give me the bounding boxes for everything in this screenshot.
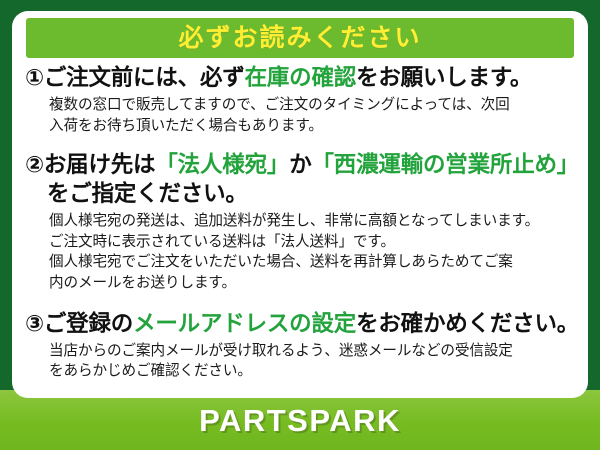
header-banner: 必ずお読みください xyxy=(26,18,574,58)
notice-body-line: をあらかじめご確認ください。 xyxy=(49,361,578,382)
notice-item-heading-line2: をご指定ください。 xyxy=(25,180,578,209)
notice-item-heading: ①ご注文前には、必ず在庫の確認をお願いします。 xyxy=(25,64,578,93)
notice-item-body: 当店からのご案内メールが受け取れるよう、迷惑メールなどの受信設定をあらかじめご確… xyxy=(25,341,578,382)
notice-highlight-text: 「西濃運輸の営業所止め」 xyxy=(312,152,580,177)
notice-item-heading: ③ご登録のメールアドレスの設定をお確かめください。 xyxy=(25,310,578,339)
notice-heading-text: か xyxy=(289,152,311,177)
notice-item: ①ご注文前には、必ず在庫の確認をお願いします。複数の窓口で販売してますので、ご注… xyxy=(12,64,588,136)
notice-item-marker: ③ xyxy=(25,311,44,336)
notice-heading-text: お届け先は xyxy=(44,152,156,177)
notice-item: ③ご登録のメールアドレスの設定をお確かめください。当店からのご案内メールが受け取… xyxy=(12,310,588,382)
notice-body-line: 個人様宅宛の発送は、追加送料が発生し、非常に高額となってしまいます。 xyxy=(49,211,578,232)
notice-item-marker: ① xyxy=(25,65,44,90)
header-title: 必ずお読みください xyxy=(178,26,421,51)
notice-list: ①ご注文前には、必ず在庫の確認をお願いします。複数の窓口で販売してますので、ご注… xyxy=(12,64,588,382)
notice-body-line: ご注文時に表示されている送料は「法人送料」です。 xyxy=(49,232,578,253)
notice-highlight-text: 「法人様宛」 xyxy=(155,152,289,177)
notice-banner-root: PARTSPARK 必ずお読みください ①ご注文前には、必ず在庫の確認をお願いし… xyxy=(0,0,600,450)
notice-card: 必ずお読みください ①ご注文前には、必ず在庫の確認をお願いします。複数の窓口で販… xyxy=(12,11,588,398)
notice-heading-text: をお確かめください。 xyxy=(356,311,579,336)
notice-highlight-text: メールアドレスの設定 xyxy=(133,311,356,336)
notice-highlight-text: 在庫の確認 xyxy=(245,65,357,90)
notice-heading-text: をお願いします。 xyxy=(356,65,532,90)
notice-body-line: 内のメールをお送りします。 xyxy=(49,273,578,294)
brand-name: PARTSPARK xyxy=(199,405,401,436)
notice-body-line: 入荷をお待ち頂いただく場合もあります。 xyxy=(49,116,578,137)
notice-item-heading: ②お届け先は「法人様宛」か「西濃運輸の営業所止め」 xyxy=(25,151,578,180)
notice-heading-text: ご注文前には、必ず xyxy=(44,65,245,90)
notice-item: ②お届け先は「法人様宛」か「西濃運輸の営業所止め」をご指定ください。個人様宅宛の… xyxy=(12,151,588,293)
notice-item-marker: ② xyxy=(25,152,44,177)
notice-body-line: 当店からのご案内メールが受け取れるよう、迷惑メールなどの受信設定 xyxy=(49,341,578,362)
notice-heading-text: ご登録の xyxy=(44,311,133,336)
footer-brand-band: PARTSPARK xyxy=(0,390,600,450)
notice-item-body: 個人様宅宛の発送は、追加送料が発生し、非常に高額となってしまいます。ご注文時に表… xyxy=(25,211,578,294)
notice-body-line: 複数の窓口で販売してますので、ご注文のタイミングによっては、次回 xyxy=(49,95,578,116)
notice-item-body: 複数の窓口で販売してますので、ご注文のタイミングによっては、次回入荷をお待ち頂い… xyxy=(25,95,578,136)
notice-body-line: 個人様宅宛でご注文をいただいた場合、送料を再計算しあらためてご案 xyxy=(49,252,578,273)
